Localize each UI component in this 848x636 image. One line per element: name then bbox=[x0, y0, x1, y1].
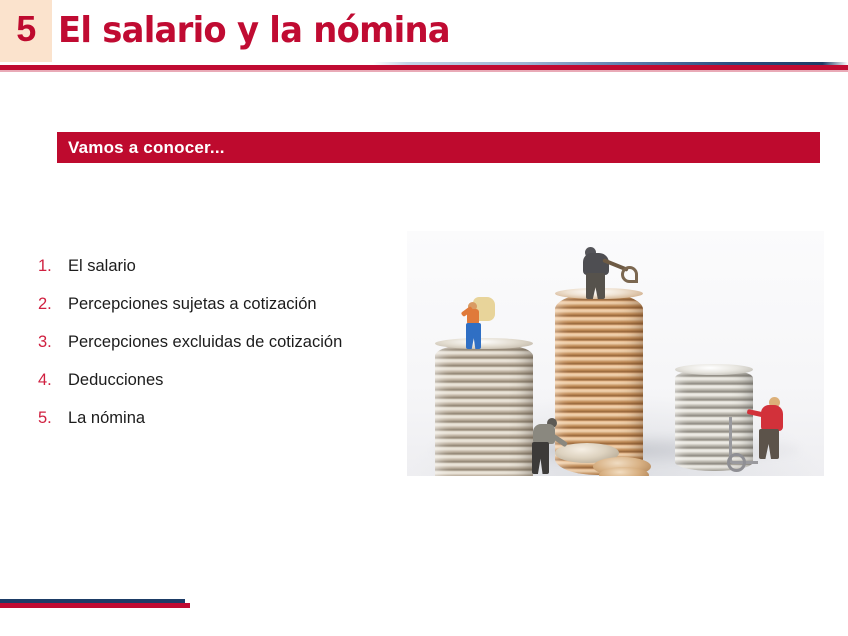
list-item-number: 4. bbox=[38, 370, 68, 391]
footer-rule-red bbox=[0, 603, 190, 608]
list-item: 3. Percepciones excluidas de cotización bbox=[38, 332, 398, 353]
figurine-legs bbox=[466, 323, 481, 349]
list-item-number: 2. bbox=[38, 294, 68, 315]
header-rule-red bbox=[0, 65, 848, 70]
list-item-label: Deducciones bbox=[68, 370, 398, 391]
figurine-torso bbox=[533, 424, 555, 444]
loose-coin bbox=[599, 467, 649, 476]
figurine-legs bbox=[532, 442, 549, 474]
section-banner-label: Vamos a conocer... bbox=[68, 132, 225, 163]
figurine-legs bbox=[586, 273, 605, 299]
figurine-legs bbox=[759, 429, 779, 459]
list-item: 5. La nómina bbox=[38, 408, 398, 429]
list-item-label: Percepciones sujetas a cotización bbox=[68, 294, 398, 315]
agenda-list: 1. El salario 2. Percepciones sujetas a … bbox=[38, 256, 398, 429]
section-banner: Vamos a conocer... bbox=[57, 132, 820, 163]
list-item-label: Percepciones excluidas de cotización bbox=[68, 332, 398, 353]
figurine-pushing-cart bbox=[745, 393, 793, 459]
figurine-torso bbox=[583, 253, 609, 275]
list-item-number: 1. bbox=[38, 256, 68, 277]
list-item-number: 5. bbox=[38, 408, 68, 429]
list-item-label: El salario bbox=[68, 256, 398, 277]
slide-canvas: 5 El salario y la nómina Vamos a conocer… bbox=[0, 0, 848, 636]
page-title: El salario y la nómina bbox=[58, 5, 450, 57]
figurine-with-pickaxe bbox=[571, 243, 631, 299]
list-item-number: 3. bbox=[38, 332, 68, 353]
list-item: 1. El salario bbox=[38, 256, 398, 277]
coin-top-face bbox=[675, 364, 753, 375]
figurine-torso bbox=[761, 405, 783, 431]
list-item: 4. Deducciones bbox=[38, 370, 398, 391]
list-item-label: La nómina bbox=[68, 408, 398, 429]
figurine-with-sack bbox=[453, 293, 499, 349]
coin-stack-silver-left bbox=[435, 343, 533, 476]
chapter-number: 5 bbox=[0, 0, 52, 62]
handcart-wheel-icon bbox=[727, 453, 746, 472]
list-item: 2. Percepciones sujetas a cotización bbox=[38, 294, 398, 315]
coins-photo bbox=[407, 231, 824, 476]
figurine-bending bbox=[525, 416, 567, 474]
slide-header: 5 El salario y la nómina bbox=[0, 0, 848, 64]
pickaxe-head-icon bbox=[621, 266, 638, 283]
